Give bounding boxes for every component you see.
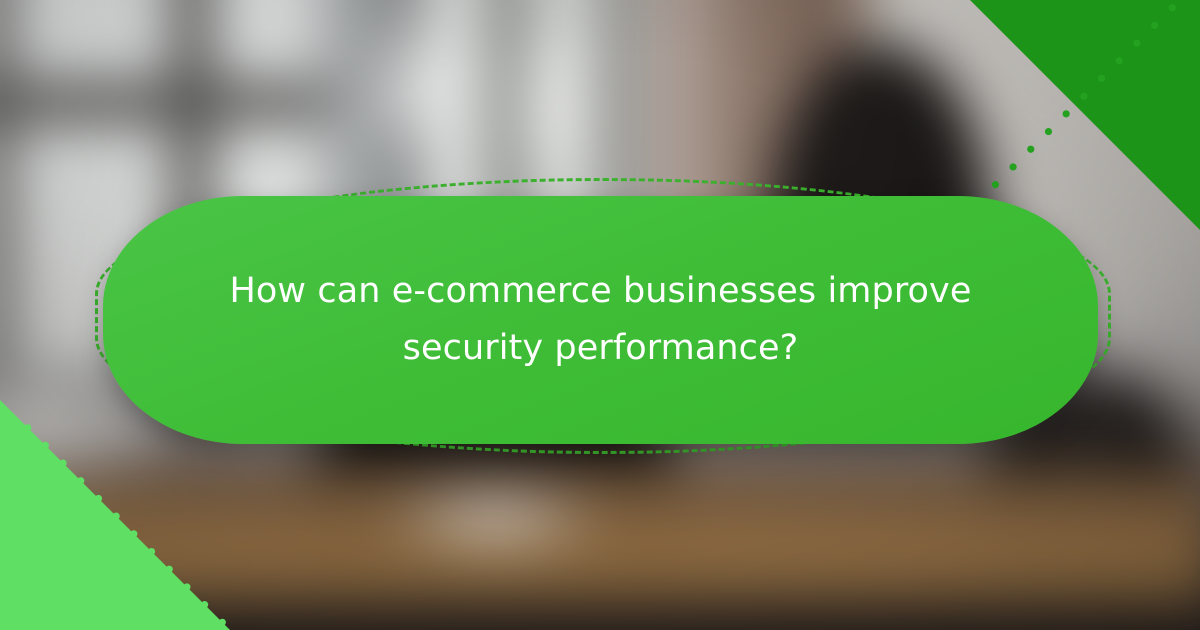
question-card-graphic: How can e-commerce businesses improve se… — [0, 0, 1200, 630]
question-card[interactable]: How can e-commerce businesses improve se… — [103, 196, 1098, 444]
question-text: How can e-commerce businesses improve se… — [197, 263, 1005, 377]
